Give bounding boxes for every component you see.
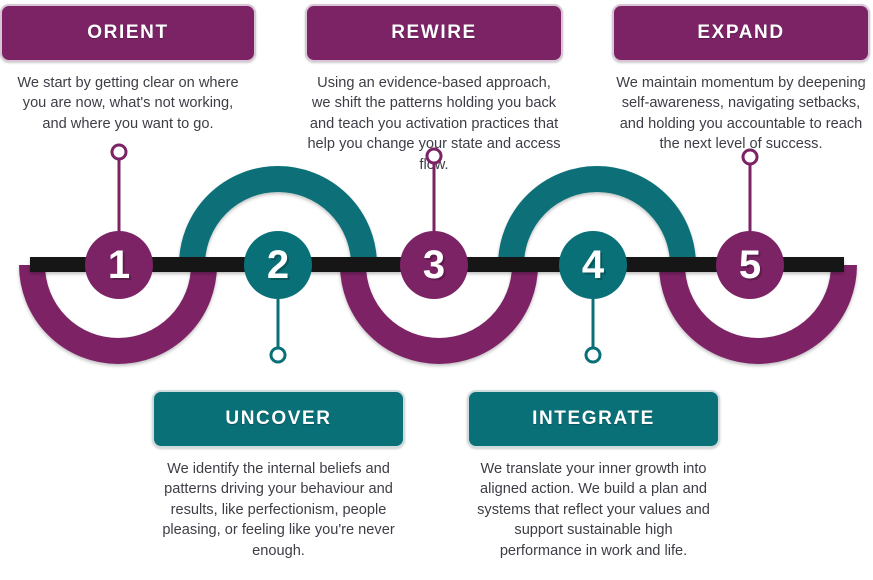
- step-card-2: UNCOVER We identify the internal beliefs…: [152, 390, 405, 561]
- step-number-5: 5: [739, 245, 761, 285]
- step-description-2: We identify the internal beliefs and pat…: [152, 459, 405, 561]
- infographic-canvas: ORIENT We start by getting clear on wher…: [0, 0, 873, 575]
- step-number-1: 1: [108, 245, 130, 285]
- step-number-3: 3: [423, 245, 445, 285]
- step-card-5: EXPAND We maintain momentum by deepening…: [612, 4, 870, 155]
- step-node-2[interactable]: 2: [244, 231, 312, 299]
- step-label-box-5[interactable]: EXPAND: [612, 4, 870, 62]
- step-node-4[interactable]: 4: [559, 231, 627, 299]
- step-node-5[interactable]: 5: [716, 231, 784, 299]
- step-label-3: REWIRE: [391, 22, 477, 44]
- step-label-box-2[interactable]: UNCOVER: [152, 390, 405, 448]
- step-description-4: We translate your inner growth into alig…: [467, 459, 720, 561]
- step-description-1: We start by getting clear on where you a…: [0, 73, 256, 134]
- step-label-box-4[interactable]: INTEGRATE: [467, 390, 720, 448]
- step-number-4: 4: [582, 245, 604, 285]
- step-number-2: 2: [267, 245, 289, 285]
- step-label-2: UNCOVER: [225, 408, 331, 430]
- step-label-5: EXPAND: [697, 22, 784, 44]
- step-label-1: ORIENT: [87, 22, 168, 44]
- step-node-1[interactable]: 1: [85, 231, 153, 299]
- step-node-3[interactable]: 3: [400, 231, 468, 299]
- step-label-4: INTEGRATE: [532, 408, 655, 430]
- step-description-5: We maintain momentum by deepening self-a…: [612, 73, 870, 155]
- step-label-box-3[interactable]: REWIRE: [305, 4, 563, 62]
- step-label-box-1[interactable]: ORIENT: [0, 4, 256, 62]
- step-card-4: INTEGRATE We translate your inner growth…: [467, 390, 720, 561]
- step-card-1: ORIENT We start by getting clear on wher…: [0, 4, 256, 134]
